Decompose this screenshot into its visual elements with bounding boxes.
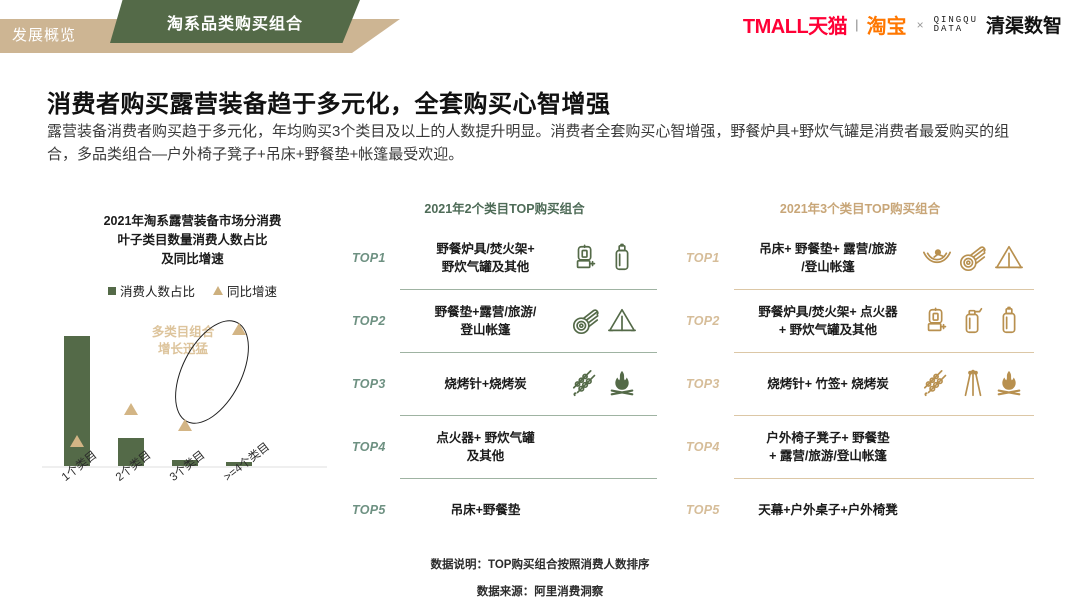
gas-canister-icon [607,243,637,273]
combo-text-line: + 露营/旅游/登山帐篷 [738,447,918,465]
legend-triangle-icon [213,286,223,295]
picnic-mat-roll-icon [958,243,988,273]
brand-logos: TMALL天猫 | 淘宝 × QINGQU DATA 清渠数智 [743,10,1062,39]
chart-title-line-2: 及同比增速 [30,250,355,269]
combo-text-line: 烧烤针+ 竹签+ 烧烤炭 [738,375,918,393]
gas-canister-icon [994,306,1024,336]
combo-text-line: 吊床+野餐垫 [404,501,567,519]
chart-legend: 消费人数占比 同比增速 [30,281,355,300]
combo-row[interactable]: TOP2野餐垫+露营/旅游/登山帐篷 [352,290,657,352]
hammock-icon [922,243,952,273]
taobao-logo: 淘宝 [867,10,907,39]
picnic-mat-roll-icon [571,306,601,336]
three-category-heading: 2021年3个类目TOP购买组合 [686,198,1034,217]
combo-text-line: 野炊气罐及其他 [404,258,567,276]
combo-rank-label: TOP4 [352,440,400,454]
bbq-skewer-icon [922,369,952,399]
times-icon: × [917,18,924,32]
legend-label-growth: 同比增速 [227,281,277,300]
combo-icons [571,243,657,273]
consumer-category-chart: 2021年淘系露营装备市场分消费叶子类目数量消费人数占比及同比增速 消费人数占比… [30,200,355,550]
combo-row[interactable]: TOP4点火器+ 野炊气罐及其他 [352,416,657,478]
combo-text-line: /登山帐篷 [738,258,918,276]
combo-rank-label: TOP5 [686,503,734,517]
combo-text: 天幕+户外桌子+户外椅凳 [734,501,922,519]
combo-text: 烧烤针+ 竹签+ 烧烤炭 [734,375,922,393]
chart-title-line-0: 2021年淘系露营装备市场分消费 [30,212,355,231]
combo-text-line: 野餐炉具/焚火架+ [404,240,567,258]
legend-item-bar: 消费人数占比 [108,281,195,300]
combo-row[interactable]: TOP4户外椅子凳子+ 野餐垫+ 露营/旅游/登山帐篷 [686,416,1034,478]
combo-row[interactable]: TOP1野餐炉具/焚火架+野炊气罐及其他 [352,227,657,289]
combo-text: 吊床+ 野餐垫+ 露营/旅游/登山帐篷 [734,240,922,276]
combo-text-line: 点火器+ 野炊气罐 [404,429,567,447]
combo-rank-label: TOP2 [686,314,734,328]
combo-text-line: 天幕+户外桌子+户外椅凳 [738,501,918,519]
combo-text: 烧烤针+烧烤炭 [400,375,571,393]
three-category-rows: TOP1吊床+ 野餐垫+ 露营/旅游/登山帐篷TOP2野餐炉具/焚火架+ 点火器… [686,227,1034,541]
data-note: 数据说明：TOP购买组合按照消费人数排序 [0,556,1080,572]
combo-icons [571,306,657,336]
combo-icons [571,369,657,399]
combo-text: 点火器+ 野炊气罐及其他 [400,429,571,465]
bamboo-sticks-icon [958,369,988,399]
chart-title: 2021年淘系露营装备市场分消费叶子类目数量消费人数占比及同比增速 [30,200,355,269]
combo-rank-label: TOP3 [686,377,734,391]
logo-separator: | [855,17,858,32]
chart-growth-marker [232,323,246,335]
three-category-column: 2021年3个类目TOP购买组合 TOP1吊床+ 野餐垫+ 露营/旅游/登山帐篷… [686,198,1034,541]
topic-tab-label: 淘系品类购买组合 [110,10,360,34]
combo-rank-label: TOP2 [352,314,400,328]
combo-text-line: 野餐炉具/焚火架+ 点火器 [738,303,918,321]
combo-rank-label: TOP1 [686,251,734,265]
chart-plot-area: 多类目组合增长迅猛 [42,318,342,468]
combo-icons [922,306,1034,336]
combo-row[interactable]: TOP5天幕+户外桌子+户外椅凳 [686,479,1034,541]
combo-row[interactable]: TOP5吊床+野餐垫 [352,479,657,541]
combo-text: 野餐炉具/焚火架+野炊气罐及其他 [400,240,571,276]
qingqu-logo-line2: DATA [934,25,978,34]
combo-text-line: + 野炊气罐及其他 [738,321,918,339]
tmall-logo: TMALL天猫 [743,10,847,39]
campfire-icon [607,369,637,399]
camp-stove-icon [922,306,952,336]
chart-x-axis: 1个类目2个类目3个类目>=4个类目 [42,468,342,523]
combo-text-line: 登山帐篷 [404,321,567,339]
data-source: 数据来源：阿里消费洞察 [0,583,1080,599]
page-title: 消费者购买露营装备趋于多元化，全套购买心智增强 [47,84,1037,119]
combo-row[interactable]: TOP3烧烤针+烧烤炭 [352,353,657,415]
combo-row[interactable]: TOP2野餐炉具/焚火架+ 点火器+ 野炊气罐及其他 [686,290,1034,352]
slide-root: 发展概览 淘系品类购买组合 TMALL天猫 | 淘宝 × QINGQU DATA… [0,0,1080,608]
campfire-icon [994,369,1024,399]
two-category-heading: 2021年2个类目TOP购买组合 [352,198,657,217]
combo-icons [922,243,1034,273]
two-category-rows: TOP1野餐炉具/焚火架+野炊气罐及其他TOP2野餐垫+露营/旅游/登山帐篷TO… [352,227,657,541]
bbq-skewer-icon [571,369,601,399]
legend-label-bar: 消费人数占比 [120,281,195,300]
combo-text: 户外椅子凳子+ 野餐垫+ 露营/旅游/登山帐篷 [734,429,922,465]
tent-icon [994,243,1024,273]
combo-icons [922,369,1034,399]
qingqu-name-label: 清渠数智 [986,11,1062,38]
camp-stove-icon [571,243,601,273]
chart-growth-marker [124,403,138,415]
lighter-icon [958,306,988,336]
combo-rank-label: TOP1 [352,251,400,265]
combo-text-line: 户外椅子凳子+ 野餐垫 [738,429,918,447]
legend-item-growth: 同比增速 [213,281,277,300]
page-subtitle: 露营装备消费者购买趋于多元化，年均购买3个类目及以上的人数提升明显。消费者全套购… [47,120,1032,166]
two-category-column: 2021年2个类目TOP购买组合 TOP1野餐炉具/焚火架+野炊气罐及其他TOP… [352,198,657,541]
combo-row[interactable]: TOP3烧烤针+ 竹签+ 烧烤炭 [686,353,1034,415]
combo-rank-label: TOP4 [686,440,734,454]
combo-text: 野餐垫+露营/旅游/登山帐篷 [400,303,571,339]
tent-icon [607,306,637,336]
combo-rank-label: TOP5 [352,503,400,517]
chart-growth-marker [70,435,84,447]
combo-rank-label: TOP3 [352,377,400,391]
qingqu-data-logo: QINGQU DATA [934,16,978,34]
chart-growth-marker [178,419,192,431]
combo-text: 吊床+野餐垫 [400,501,571,519]
legend-square-icon [108,287,116,295]
combo-text-line: 野餐垫+露营/旅游/ [404,303,567,321]
combo-text-line: 烧烤针+烧烤炭 [404,375,567,393]
combo-row[interactable]: TOP1吊床+ 野餐垫+ 露营/旅游/登山帐篷 [686,227,1034,289]
combo-text: 野餐炉具/焚火架+ 点火器+ 野炊气罐及其他 [734,303,922,339]
combo-text-line: 吊床+ 野餐垫+ 露营/旅游 [738,240,918,258]
combo-text-line: 及其他 [404,447,567,465]
chart-title-line-1: 叶子类目数量消费人数占比 [30,231,355,250]
